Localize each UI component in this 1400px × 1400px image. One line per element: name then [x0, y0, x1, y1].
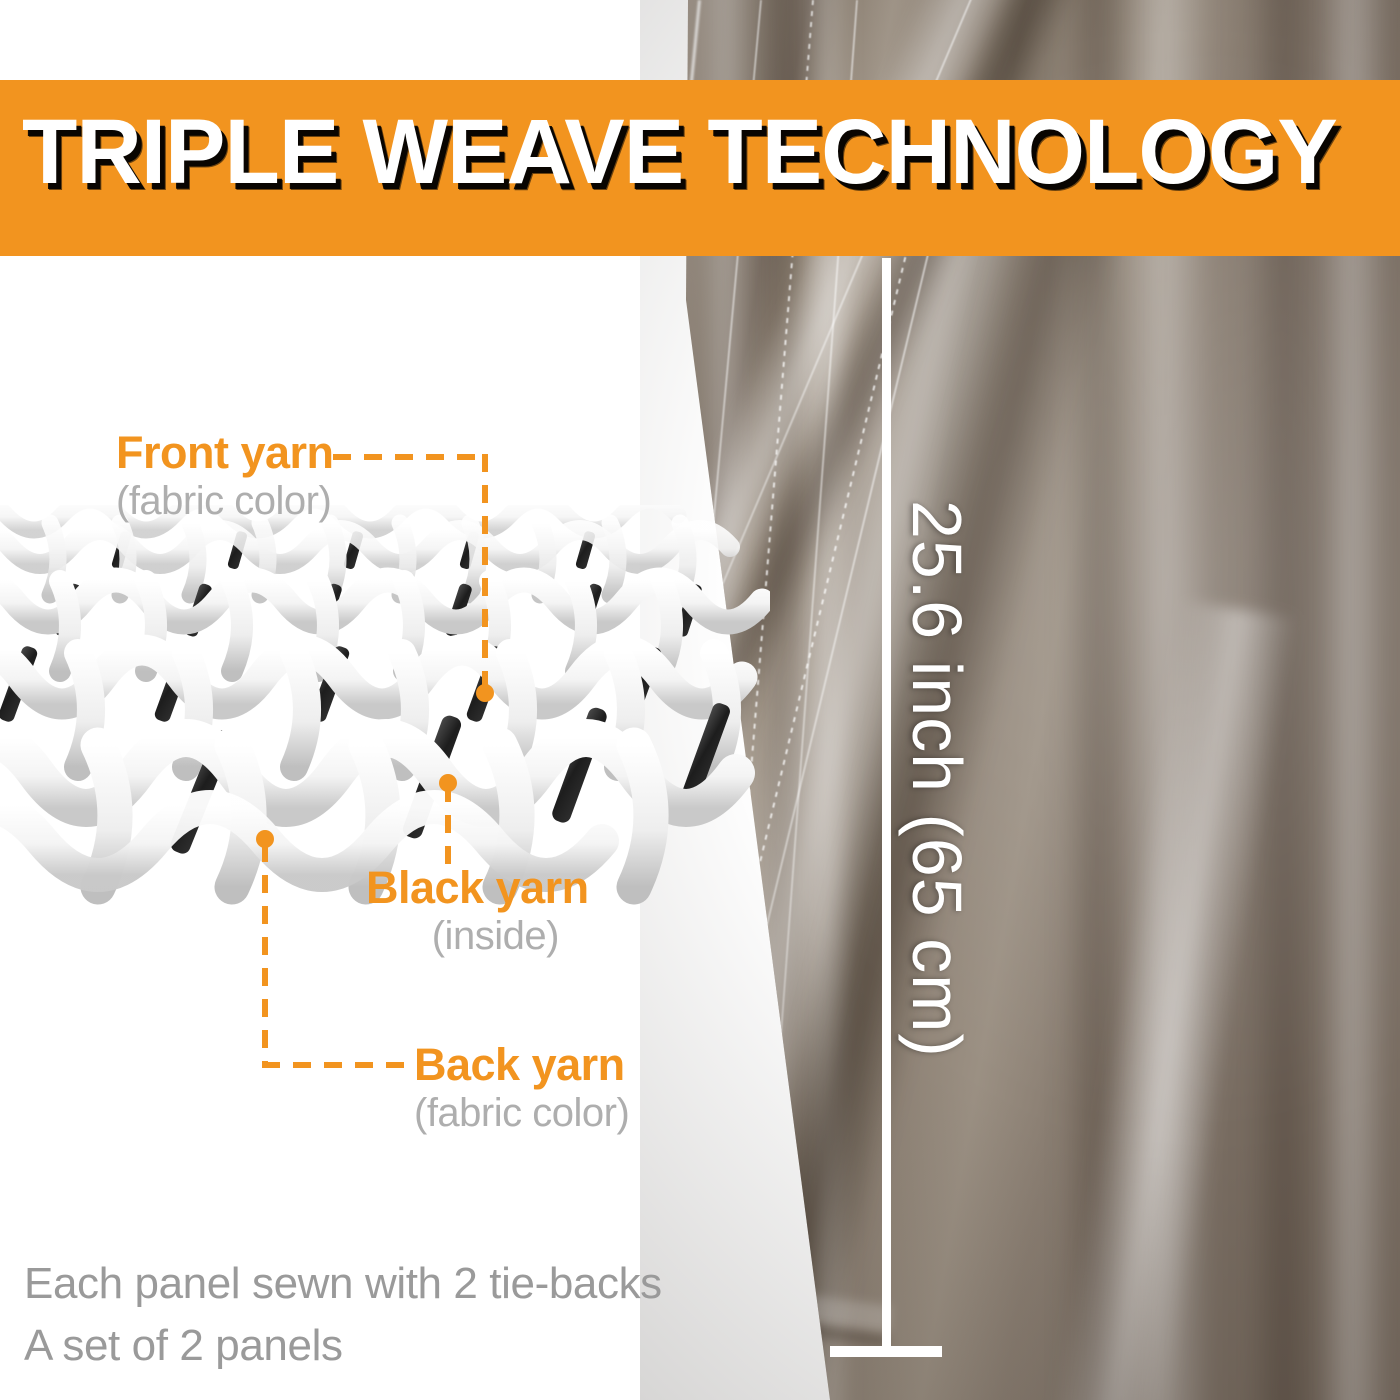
- note-panel-count: A set of 2 panels: [24, 1315, 662, 1377]
- measurement-label: 25.6 inch (65 cm): [889, 500, 985, 1180]
- callout-front-yarn-title: Front yarn: [116, 428, 334, 478]
- callout-black-yarn-title: Black yarn: [366, 863, 589, 913]
- callout-black-yarn: Black yarn (inside): [366, 863, 589, 959]
- callout-front-yarn: Front yarn (fabric color): [116, 428, 334, 524]
- page-title: TRIPLE WEAVE TECHNOLOGY: [22, 100, 1337, 204]
- title-banner: TRIPLE WEAVE TECHNOLOGY: [0, 80, 1400, 256]
- callout-black-yarn-subtitle: (inside): [366, 913, 589, 959]
- callout-front-yarn-subtitle: (fabric color): [116, 478, 334, 524]
- note-tiebacks: Each panel sewn with 2 tie-backs: [24, 1253, 662, 1315]
- bottom-notes: Each panel sewn with 2 tie-backs A set o…: [24, 1253, 662, 1377]
- callout-back-yarn: Back yarn (fabric color): [414, 1040, 629, 1136]
- callout-back-yarn-subtitle: (fabric color): [414, 1090, 629, 1136]
- callout-back-yarn-title: Back yarn: [414, 1040, 629, 1090]
- infographic-canvas: TRIPLE WEAVE TECHNOLOGY 25.6 inch (65 cm…: [0, 0, 1400, 1400]
- measurement-end-cap: [830, 1346, 942, 1357]
